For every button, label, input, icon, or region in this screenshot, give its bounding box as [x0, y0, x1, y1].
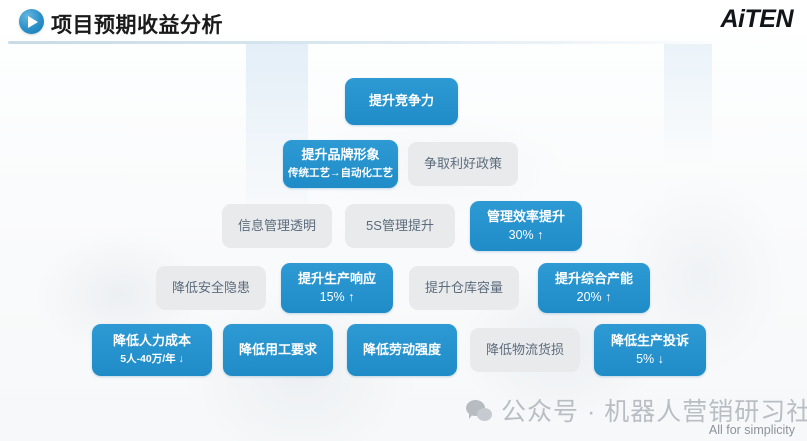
pyramid-node-label: 降低劳动强度: [363, 342, 441, 359]
background-blue-panel-left: [246, 44, 308, 224]
pyramid-node[interactable]: 信息管理透明: [222, 204, 332, 248]
pyramid-node-subtext: 15% ↑: [320, 289, 355, 305]
pyramid-node[interactable]: 降低生产投诉5% ↓: [594, 324, 706, 376]
aiten-logo: AiTEN: [721, 5, 794, 34]
pyramid-node-label: 提升竞争力: [369, 93, 434, 110]
pyramid-node[interactable]: 提升生产响应15% ↑: [281, 263, 393, 313]
pyramid-node[interactable]: 降低劳动强度: [347, 324, 457, 376]
pyramid-node-label: 提升综合产能: [555, 271, 633, 288]
pyramid-node-label: 信息管理透明: [238, 218, 316, 235]
pyramid-node[interactable]: 5S管理提升: [345, 204, 455, 248]
pyramid-node-subtext: 20% ↑: [577, 289, 612, 305]
pyramid-node[interactable]: 提升竞争力: [345, 78, 458, 125]
pyramid-node-subtext: 传统工艺→自动化工艺: [288, 167, 393, 180]
header-divider: [8, 41, 724, 44]
pyramid-node-subtext: 5人-40万/年 ↓: [120, 353, 184, 366]
background-blue-panel-right: [664, 44, 712, 164]
pyramid-node-label: 降低人力成本: [113, 333, 191, 350]
pyramid-node[interactable]: 降低用工要求: [223, 324, 333, 376]
pyramid-node[interactable]: 提升综合产能20% ↑: [538, 263, 650, 313]
pyramid-node-label: 提升仓库容量: [425, 280, 503, 297]
pyramid-node[interactable]: 提升仓库容量: [409, 266, 519, 310]
pyramid-node-subtext: 30% ↑: [509, 227, 544, 243]
wechat-icon: [466, 400, 492, 421]
pyramid-node-label: 降低用工要求: [239, 342, 317, 359]
pyramid-node[interactable]: 降低安全隐患: [156, 266, 266, 310]
pyramid-node-label: 降低安全隐患: [172, 280, 250, 297]
pyramid-node-label: 管理效率提升: [487, 209, 565, 226]
pyramid-node[interactable]: 争取利好政策: [408, 142, 518, 186]
pyramid-node-subtext: 5% ↓: [636, 351, 664, 367]
pyramid-node[interactable]: 管理效率提升30% ↑: [470, 201, 582, 251]
footer-tagline: All for simplicity: [709, 423, 795, 437]
pyramid-node-label: 5S管理提升: [366, 218, 434, 235]
pyramid-node[interactable]: 降低人力成本5人-40万/年 ↓: [92, 324, 212, 376]
pyramid-node-label: 争取利好政策: [424, 156, 502, 173]
pyramid-node-label: 提升品牌形象: [301, 147, 379, 164]
page-title: 项目预期收益分析: [51, 9, 223, 39]
slide-root: AiTEN Robot 项目预期收益分析 AiTEN 提升竞争力提升品牌形象传统…: [0, 0, 807, 441]
pyramid-node-label: 降低物流货损: [486, 342, 564, 359]
pyramid-node-label: 降低生产投诉: [611, 333, 689, 350]
pyramid-node[interactable]: 提升品牌形象传统工艺→自动化工艺: [283, 140, 398, 188]
pyramid-node-label: 提升生产响应: [298, 271, 376, 288]
play-circle-icon: [19, 9, 44, 34]
pyramid-node[interactable]: 降低物流货损: [470, 328, 580, 372]
